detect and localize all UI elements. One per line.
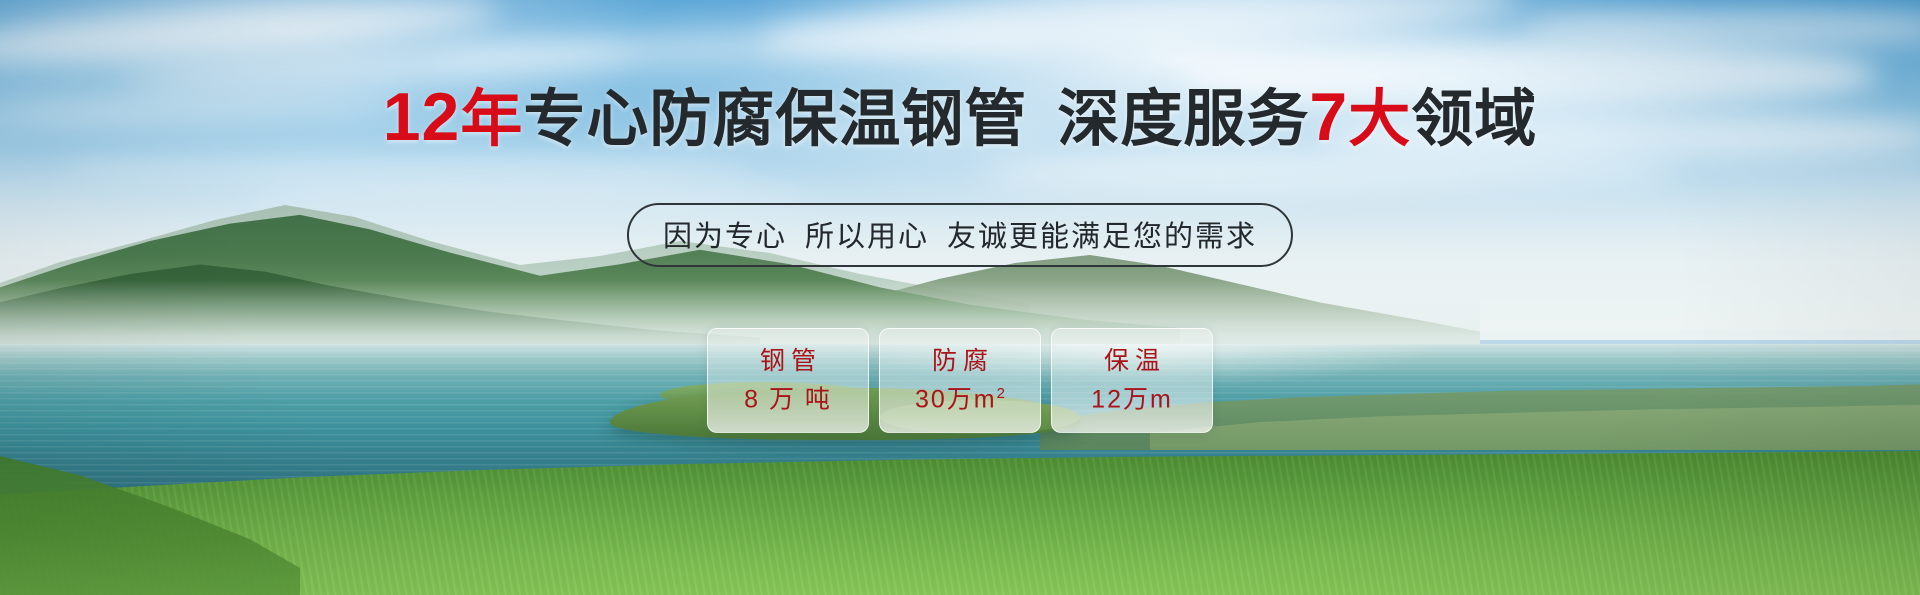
headline: 12年专心防腐保温钢管深度服务7大领域	[0, 83, 1920, 151]
stat-card-value-sup: 2	[997, 385, 1005, 402]
stat-card-value-text: 8 万 吨	[744, 385, 832, 413]
headline-service-text: 深度服务	[1057, 85, 1309, 154]
stat-card-value: 8 万 吨	[744, 386, 832, 412]
headline-count-number: 7	[1309, 79, 1348, 155]
stat-card-title: 防腐	[926, 349, 994, 374]
promo-banner: 12年专心防腐保温钢管深度服务7大领域 因为专心所以用心友诚更能满足您的需求 钢…	[0, 0, 1920, 595]
stat-card-insulation[interactable]: 保温 12万m	[1051, 328, 1213, 433]
headline-field-text: 领域	[1411, 85, 1537, 154]
stat-card-value-text: 12万m	[1091, 385, 1173, 413]
stat-card-value: 30万m2	[915, 386, 1005, 412]
headline-main-text: 专心防腐保温钢管	[523, 85, 1027, 154]
subtitle-pill: 因为专心所以用心友诚更能满足您的需求	[627, 203, 1293, 267]
subtitle-part-1: 因为专心	[663, 221, 787, 253]
stat-card-title: 钢管	[754, 349, 822, 374]
stat-card-title: 保温	[1098, 349, 1166, 374]
stat-card-group: 钢管 8 万 吨 防腐 30万m2 保温 12万m	[707, 328, 1213, 433]
stat-card-steel-pipe[interactable]: 钢管 8 万 吨	[707, 328, 869, 433]
stat-card-value: 12万m	[1091, 386, 1173, 412]
subtitle-part-2: 所以用心	[805, 221, 929, 253]
headline-count-unit: 大	[1348, 85, 1411, 154]
stat-card-anticorrosion[interactable]: 防腐 30万m2	[879, 328, 1041, 433]
stat-card-value-text: 30万m	[915, 385, 997, 413]
subtitle-part-3: 友诚更能满足您的需求	[947, 221, 1257, 253]
headline-years-unit: 年	[460, 85, 523, 154]
headline-years-number: 12	[383, 79, 461, 155]
